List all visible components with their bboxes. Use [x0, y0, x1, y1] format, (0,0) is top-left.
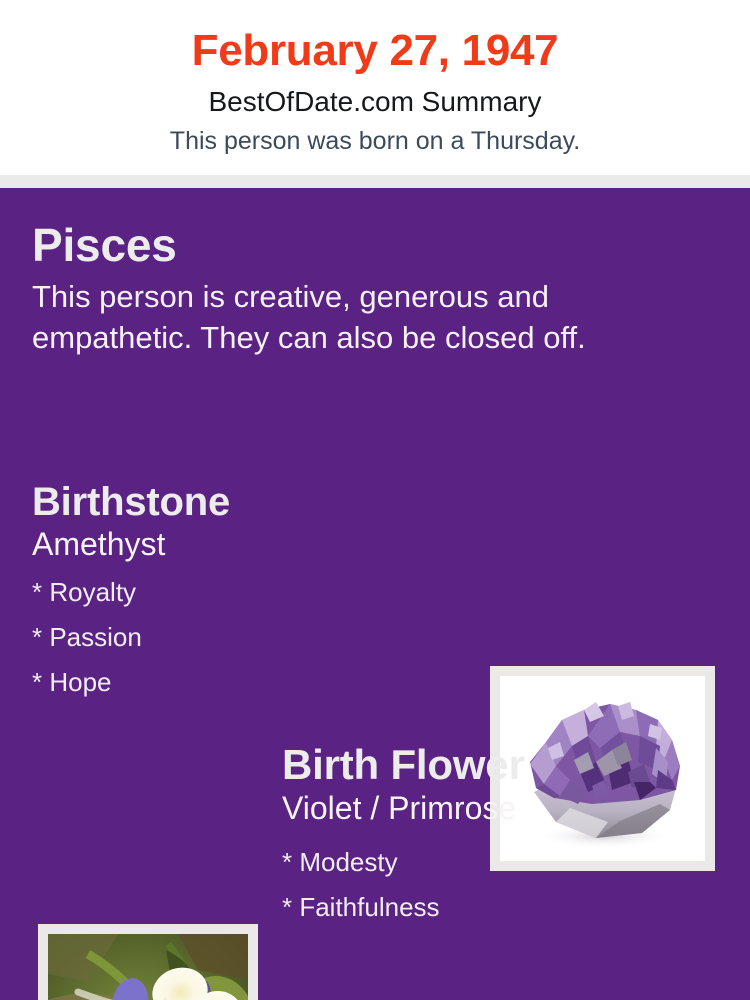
birthstone-name: Amethyst [32, 524, 472, 564]
birth-flower-photo [48, 934, 248, 1000]
birthstone-trait-list: * Royalty * Passion * Hope [32, 570, 472, 705]
header: February 27, 1947 BestOfDate.com Summary… [0, 0, 750, 175]
birth-flower-trait-list: * Modesty * Faithfulness [282, 840, 732, 930]
birthstone-title: Birthstone [32, 478, 472, 526]
birthstone-trait: * Royalty [32, 570, 472, 615]
zodiac-section: Pisces This person is creative, generous… [32, 218, 712, 358]
birth-flower-photo-frame [38, 924, 258, 1000]
weekday-note: This person was born on a Thursday. [0, 125, 750, 157]
birth-flower-title: Birth Flower [282, 740, 732, 790]
details-panel: Pisces This person is creative, generous… [0, 188, 750, 1000]
birth-flower-trait: * Faithfulness [282, 885, 732, 930]
violet-and-primrose-flower-icon [48, 934, 248, 1000]
birth-flower-trait: * Modesty [282, 840, 732, 885]
page-title-date: February 27, 1947 [0, 24, 750, 78]
zodiac-description: This person is creative, generous and em… [32, 276, 704, 358]
site-summary-label: BestOfDate.com Summary [0, 85, 750, 119]
birth-flower-section: Birth Flower Violet / Primrose * Modesty… [282, 740, 732, 930]
zodiac-sign-title: Pisces [32, 218, 712, 272]
summary-infographic: February 27, 1947 BestOfDate.com Summary… [0, 0, 750, 1000]
birthstone-trait: * Hope [32, 660, 472, 705]
birthstone-section: Birthstone Amethyst * Royalty * Passion … [32, 478, 472, 705]
birth-flower-name: Violet / Primrose [282, 788, 732, 828]
header-divider [0, 175, 750, 188]
birthstone-trait: * Passion [32, 615, 472, 660]
